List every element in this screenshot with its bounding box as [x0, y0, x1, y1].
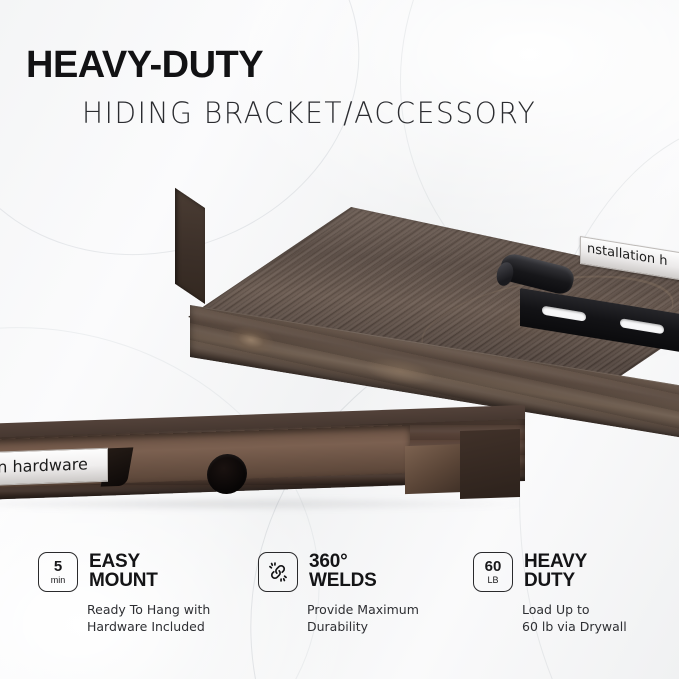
feature-1-title: EASY MOUNT: [89, 552, 158, 591]
lower-product-photo: ion hardware: [0, 418, 679, 528]
feature-1-description: Ready To Hang with Hardware Included: [87, 601, 210, 636]
feature-360-welds: 360° WELDS Provide Maximum Durability: [258, 552, 419, 636]
wood-knot-front-2: [365, 354, 435, 389]
feature-3-title-line1: HEAVY: [524, 552, 587, 571]
feature-easy-mount: 5 min EASY MOUNT Ready To Hang with Hard…: [38, 552, 210, 636]
feature-2-title-line1: 360°: [309, 552, 377, 571]
bracket-slot-2: [620, 318, 664, 334]
shelf-right-end: [460, 429, 520, 499]
feature-3-desc-line1: Load Up to: [522, 601, 627, 618]
page-title: HEAVY-DUTY: [26, 46, 263, 84]
feature-3-badge-main: 60: [485, 559, 502, 574]
feature-1-desc-line1: Ready To Hang with: [87, 601, 210, 618]
shelf-end-grain-cap: [175, 188, 205, 304]
lower-installation-label: ion hardware: [0, 448, 108, 487]
feature-1-desc-line2: Hardware Included: [87, 618, 210, 635]
feature-2-description: Provide Maximum Durability: [307, 601, 419, 636]
bracket-slot-1: [542, 306, 586, 322]
feature-3-badge-sub: LB: [487, 575, 498, 585]
feature-3-description: Load Up to 60 lb via Drywall: [522, 601, 627, 636]
feature-3-title: HEAVY DUTY: [524, 552, 587, 591]
feature-3-desc-line2: 60 lb via Drywall: [522, 618, 627, 635]
feature-2-desc-line2: Durability: [307, 618, 419, 635]
page-subtitle: HIDING BRACKET/ACCESSORY: [82, 99, 536, 128]
feature-3-head: 60 LB HEAVY DUTY: [473, 552, 627, 592]
feature-heavy-duty: 60 LB HEAVY DUTY Load Up to 60 lb via Dr…: [473, 552, 627, 636]
shelf-channel-endcap: [405, 444, 467, 494]
feature-1-badge-main: 5: [54, 559, 62, 574]
lower-label-text: ion hardware: [0, 454, 88, 477]
feature-2-title: 360° WELDS: [309, 552, 377, 591]
product-infographic: HEAVY-DUTY HIDING BRACKET/ACCESSORY nsta…: [0, 0, 679, 679]
wood-knot-front: [228, 323, 274, 357]
timer-badge-icon: 5 min: [38, 552, 78, 592]
feature-2-desc-line1: Provide Maximum: [307, 601, 419, 618]
weight-badge-icon: 60 LB: [473, 552, 513, 592]
feature-1-title-line1: EASY: [89, 552, 158, 571]
feature-row: 5 min EASY MOUNT Ready To Hang with Hard…: [0, 552, 679, 662]
hero-product-photo: nstallation h: [0, 130, 679, 380]
lower-contact-shadow: [0, 498, 520, 510]
hero-label-text: nstallation h: [587, 241, 668, 269]
feature-2-head: 360° WELDS: [258, 552, 419, 592]
headline-group: HEAVY-DUTY: [26, 46, 263, 84]
feature-1-head: 5 min EASY MOUNT: [38, 552, 210, 592]
feature-3-title-line2: DUTY: [524, 571, 587, 590]
chain-link-weld-icon: [258, 552, 298, 592]
feature-1-title-line2: MOUNT: [89, 571, 158, 590]
feature-2-title-line2: WELDS: [309, 571, 377, 590]
feature-1-badge-sub: min: [51, 575, 66, 585]
